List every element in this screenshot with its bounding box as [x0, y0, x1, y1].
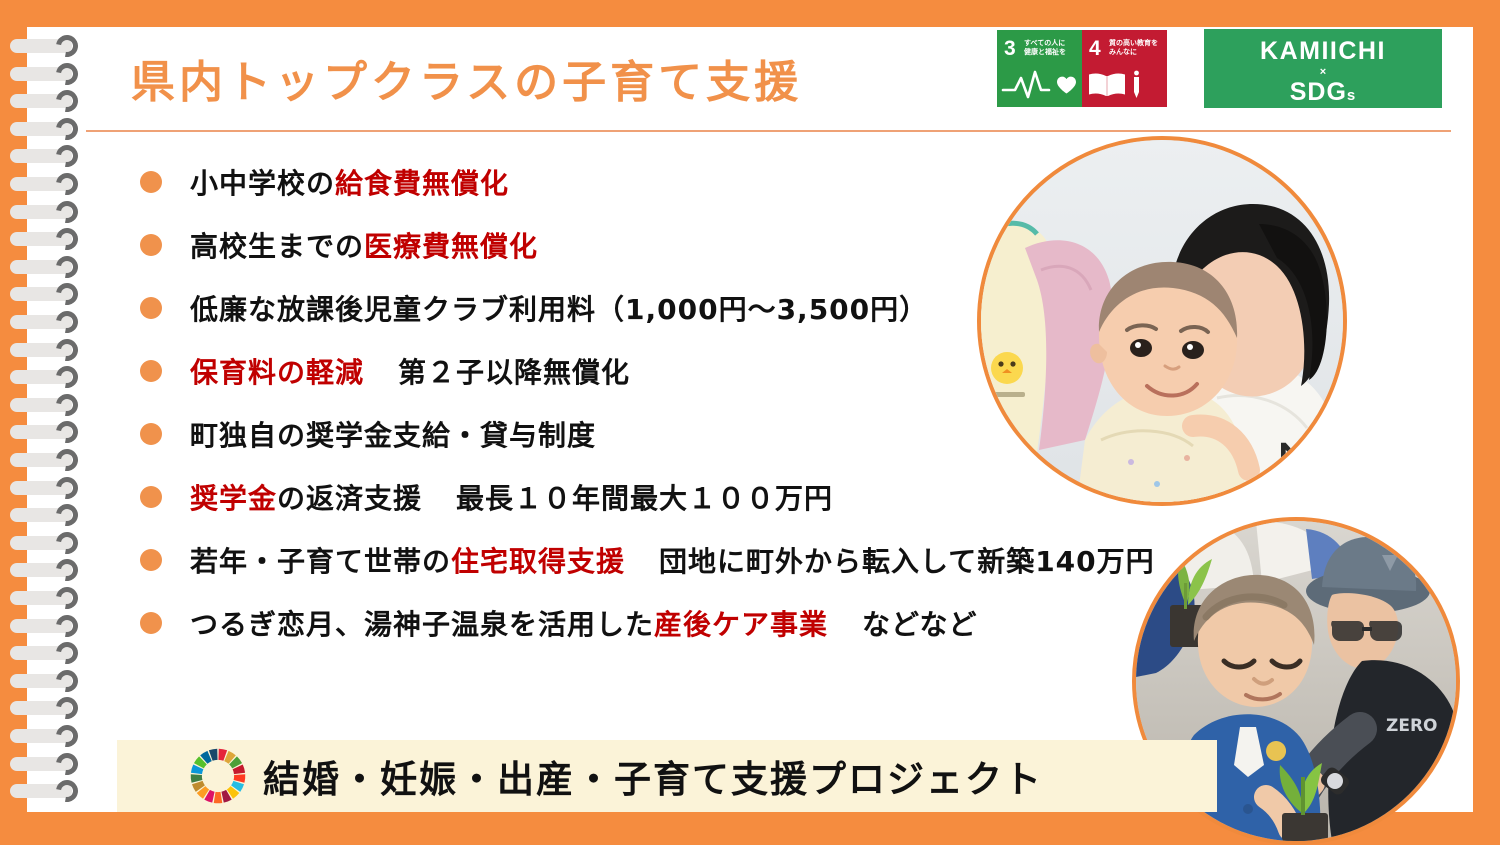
- spiral-ring-hoop: [52, 748, 83, 779]
- spiral-ring-hoop: [52, 610, 83, 641]
- spiral-ring-hoop: [52, 113, 83, 144]
- plain-text: 町独自の奨学金支給・貸与制度: [190, 419, 596, 452]
- heartbeat-icon: [997, 64, 1082, 102]
- highlighted-text: 保育料の軽減: [190, 356, 364, 389]
- spiral-binding: [0, 27, 120, 812]
- list-item-text: 奨学金の返済支援最長１０年間最大１００万円: [190, 477, 833, 517]
- plain-text: などなど: [862, 608, 977, 641]
- list-item-text: 低廉な放課後児童クラブ利用料（1,000円〜3,500円）: [190, 288, 928, 328]
- spiral-ring-hoop: [52, 445, 83, 476]
- spiral-ring-hoop: [52, 527, 83, 558]
- spiral-ring: [0, 587, 98, 609]
- book-pencil-icon: [1082, 64, 1167, 102]
- list-item: 奨学金の返済支援最長１０年間最大１００万円: [140, 465, 1180, 528]
- spiral-ring-hoop: [52, 307, 83, 338]
- kamiichi-logo-line2: SDGs: [1204, 80, 1442, 105]
- bullet-dot-icon: [140, 171, 162, 193]
- spiral-ring-hoop: [52, 86, 83, 117]
- bullet-dot-icon: [140, 486, 162, 508]
- spiral-ring: [0, 201, 98, 223]
- spiral-ring-hoop: [52, 58, 83, 89]
- spiral-ring: [0, 283, 98, 305]
- spiral-ring-hoop: [52, 196, 83, 227]
- title-divider: [86, 130, 1451, 132]
- spiral-ring: [0, 532, 98, 554]
- plain-text: 高校生までの: [190, 230, 364, 263]
- slide-root: 県内トップクラスの子育て支援 3 すべての人に 健康と福祉を 4 質の高い教育を…: [0, 0, 1500, 844]
- spiral-ring-hoop: [52, 169, 83, 200]
- spiral-ring-hoop: [52, 693, 83, 724]
- spiral-ring-hoop: [52, 555, 83, 586]
- list-item-text: 町独自の奨学金支給・貸与制度: [190, 414, 596, 454]
- spiral-ring-hoop: [52, 334, 83, 365]
- spiral-ring: [0, 256, 98, 278]
- spiral-ring: [0, 90, 98, 112]
- highlighted-text: 医療費無償化: [364, 230, 538, 263]
- spiral-ring-hoop: [52, 500, 83, 531]
- list-item: つるぎ恋月、湯神子温泉を活用した産後ケア事業などなど: [140, 591, 1180, 654]
- spiral-ring-hoop: [52, 665, 83, 696]
- plain-text: 小中学校の: [190, 167, 335, 200]
- list-item-text: 保育料の軽減第２子以降無償化: [190, 351, 630, 391]
- bullet-dot-icon: [140, 297, 162, 319]
- list-item-text: 高校生までの医療費無償化: [190, 225, 538, 265]
- spiral-ring: [0, 780, 98, 802]
- sdg-badge-4-number: 4: [1089, 38, 1101, 59]
- highlighted-text: 給食費無償化: [335, 167, 509, 200]
- spiral-ring-hoop: [52, 389, 83, 420]
- sdg-badge-4-caption: 質の高い教育を みんなに: [1109, 39, 1165, 57]
- spiral-ring-hoop: [52, 279, 83, 310]
- spiral-ring: [0, 35, 98, 57]
- spiral-ring: [0, 173, 98, 195]
- spiral-ring: [0, 477, 98, 499]
- list-item-text: 小中学校の給食費無償化: [190, 162, 509, 202]
- spiral-ring: [0, 725, 98, 747]
- plain-text: 最長１０年間最大１００万円: [456, 482, 833, 515]
- bullet-dot-icon: [140, 234, 162, 256]
- spiral-ring-hoop: [52, 141, 83, 172]
- spiral-ring: [0, 63, 98, 85]
- project-banner-text: 結婚・妊娠・出産・子育て支援プロジェクト: [263, 749, 1043, 803]
- svg-text:ZERO: ZERO: [1386, 716, 1437, 736]
- sdg-badge-3-caption: すべての人に 健康と福祉を: [1024, 39, 1080, 57]
- highlighted-text: 住宅取得支援: [451, 545, 625, 578]
- spiral-ring: [0, 504, 98, 526]
- spiral-ring-hoop: [52, 251, 83, 282]
- spiral-ring: [0, 394, 98, 416]
- bullet-dot-icon: [140, 612, 162, 634]
- spiral-ring: [0, 449, 98, 471]
- plain-text: の返済支援: [277, 482, 422, 515]
- sdg-badge-3-number: 3: [1004, 38, 1016, 59]
- kamiichi-sdgs-logo: KAMIICHI × SDGs 上市町は持続可能な開発目標（SDGs）を支援して…: [1204, 29, 1442, 108]
- spiral-ring-hoop: [52, 638, 83, 669]
- spiral-ring: [0, 670, 98, 692]
- spiral-ring: [0, 559, 98, 581]
- kamiichi-logo-cross: ×: [1204, 67, 1442, 78]
- sdg-wheel-segment: [191, 774, 203, 782]
- kamiichi-logo-line1: KAMIICHI: [1204, 39, 1442, 64]
- spiral-ring: [0, 228, 98, 250]
- spiral-ring: [0, 118, 98, 140]
- plain-text: 第２子以降無償化: [398, 356, 630, 389]
- spiral-ring-hoop: [52, 31, 83, 62]
- sdg-badges: 3 すべての人に 健康と福祉を 4 質の高い教育を みんなに: [997, 30, 1167, 107]
- sdg-color-wheel-icon: [187, 745, 249, 807]
- spiral-ring-hoop: [52, 224, 83, 255]
- list-item-text: つるぎ恋月、湯神子温泉を活用した産後ケア事業などなど: [190, 603, 977, 643]
- spiral-ring: [0, 753, 98, 775]
- spiral-ring-hoop: [52, 417, 83, 448]
- spiral-ring: [0, 339, 98, 361]
- spiral-ring: [0, 311, 98, 333]
- plain-text: 若年・子育て世帯の: [190, 545, 451, 578]
- sdg-wheel-segment: [234, 774, 246, 782]
- project-banner: 結婚・妊娠・出産・子育て支援プロジェクト: [117, 740, 1217, 812]
- sdg-badge-4: 4 質の高い教育を みんなに: [1082, 30, 1167, 107]
- bullet-dot-icon: [140, 423, 162, 445]
- spiral-ring-hoop: [52, 362, 83, 393]
- sdg-badge-3: 3 すべての人に 健康と福祉を: [997, 30, 1082, 107]
- plain-text: つるぎ恋月、湯神子温泉を活用した: [190, 608, 654, 641]
- spiral-ring-hoop: [52, 583, 83, 614]
- kamiichi-logo-caption: 上市町は持続可能な開発目標（SDGs）を支援しています: [1204, 110, 1442, 117]
- spiral-ring: [0, 642, 98, 664]
- plain-text: 団地に町外から転入して新築140万円: [659, 545, 1155, 578]
- spiral-ring: [0, 145, 98, 167]
- spiral-ring-hoop: [52, 721, 83, 752]
- bullet-dot-icon: [140, 549, 162, 571]
- list-item-text: 若年・子育て世帯の住宅取得支援団地に町外から転入して新築140万円: [190, 540, 1155, 580]
- list-item: 若年・子育て世帯の住宅取得支援団地に町外から転入して新築140万円: [140, 528, 1180, 591]
- bullet-dot-icon: [140, 360, 162, 382]
- page-title: 県内トップクラスの子育て支援: [131, 46, 802, 110]
- spiral-ring: [0, 421, 98, 443]
- spiral-ring: [0, 366, 98, 388]
- photo-parent-and-baby: 2: [977, 136, 1347, 506]
- spiral-ring-hoop: [52, 472, 83, 503]
- sdg-wheel-segment: [214, 792, 223, 803]
- spiral-ring-hoop: [52, 776, 83, 807]
- highlighted-text: 奨学金: [190, 482, 277, 515]
- spiral-ring: [0, 615, 98, 637]
- spiral-ring: [0, 697, 98, 719]
- plain-text: 低廉な放課後児童クラブ利用料（1,000円〜3,500円）: [190, 293, 928, 326]
- highlighted-text: 産後ケア事業: [654, 608, 828, 641]
